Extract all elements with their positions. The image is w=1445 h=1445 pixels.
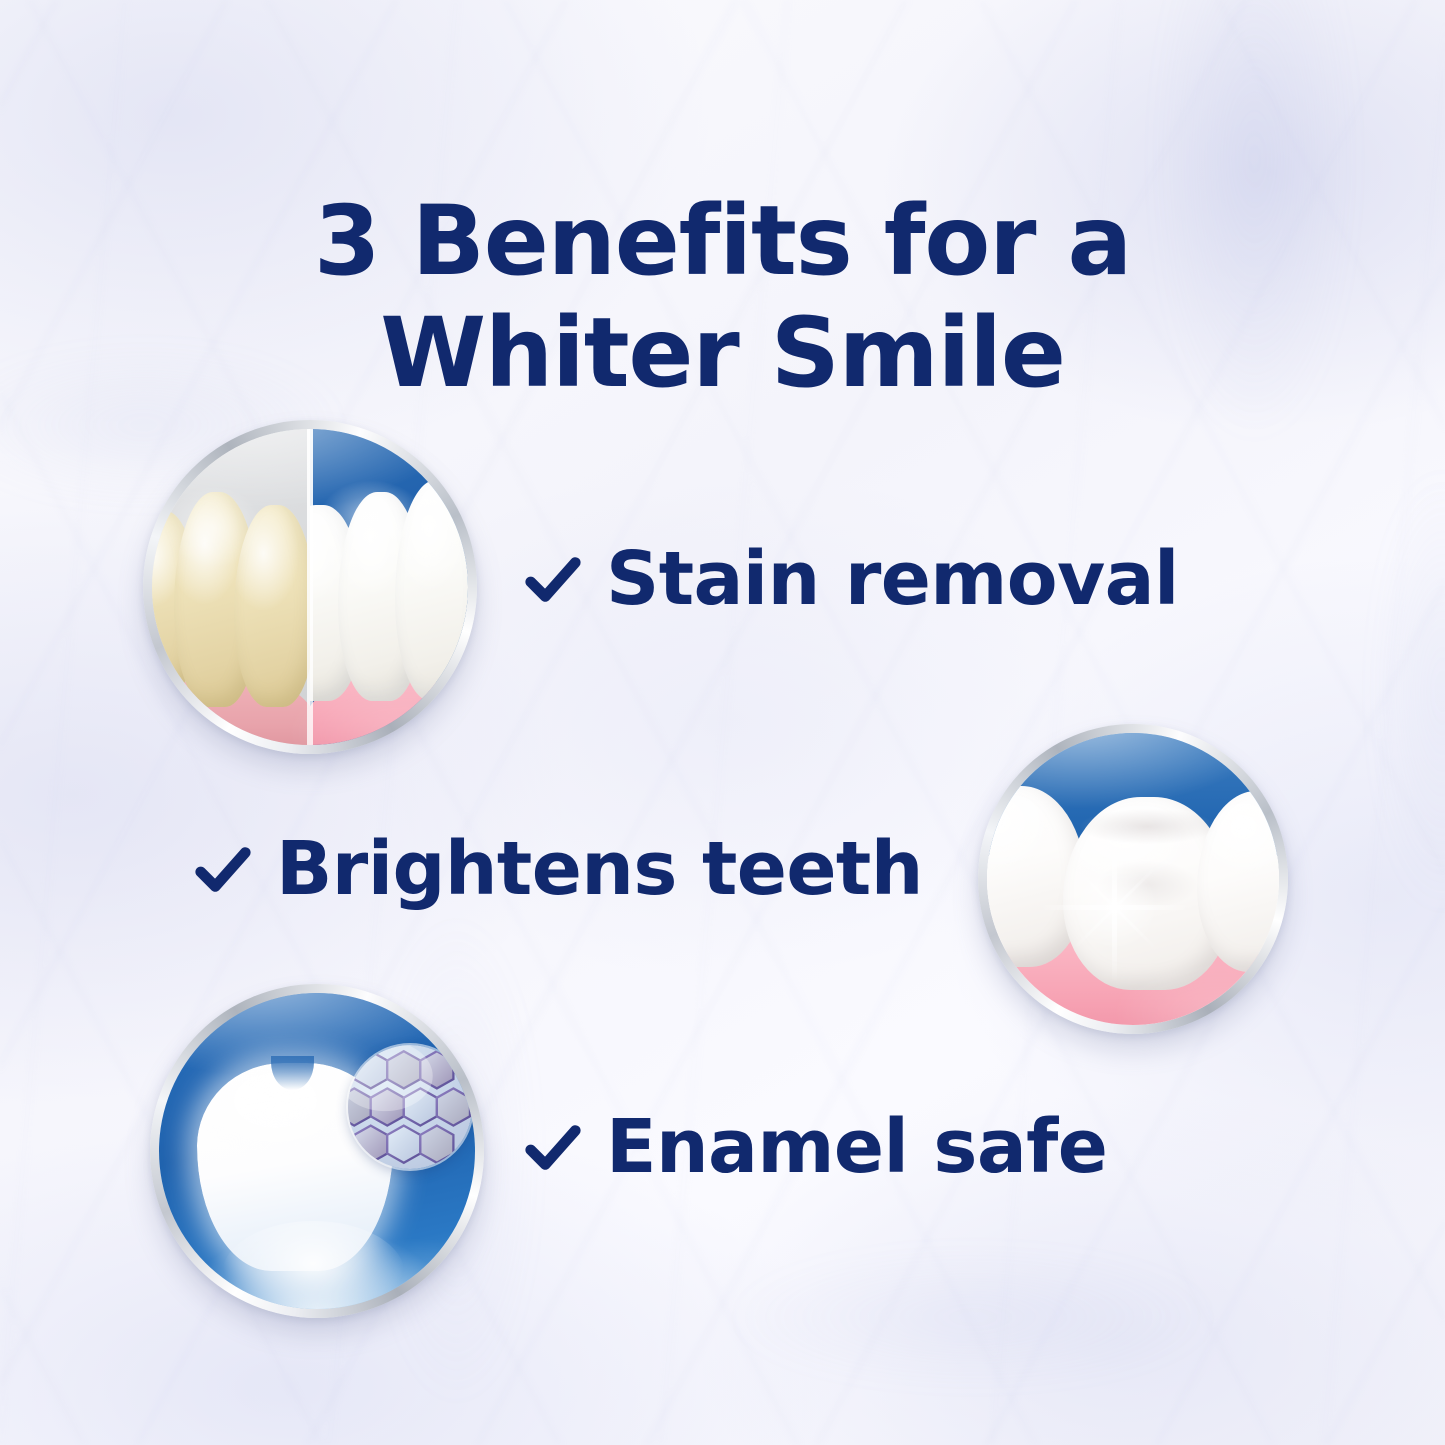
benefit-label-text: Brightens teeth — [276, 832, 923, 906]
benefit-label-enamel-safe: Enamel safe — [522, 1110, 1107, 1184]
check-icon — [192, 838, 254, 900]
infographic-canvas: 3 Benefits for a Whiter Smile — [0, 0, 1445, 1445]
before-after-divider — [307, 429, 313, 745]
benefit-label-text: Stain removal — [606, 542, 1179, 616]
page-title: 3 Benefits for a Whiter Smile — [0, 186, 1445, 409]
check-icon — [522, 548, 584, 610]
enamel-structure-icon — [159, 993, 475, 1309]
benefit-label-brightens-teeth: Brightens teeth — [192, 832, 923, 906]
before-panel — [152, 429, 310, 745]
page-title-line-2: Whiter Smile — [0, 298, 1445, 409]
benefit-label-text: Enamel safe — [606, 1110, 1107, 1184]
honeycomb-magnifier-icon — [348, 1045, 472, 1169]
shining-teeth-icon — [987, 733, 1279, 1025]
page-title-line-1: 3 Benefits for a — [0, 186, 1445, 297]
benefit-image-stain-removal — [143, 420, 477, 754]
check-icon — [522, 1116, 584, 1178]
benefit-image-brightens-teeth — [978, 724, 1288, 1034]
after-panel — [310, 429, 468, 745]
before-after-teeth-icon — [152, 429, 468, 745]
stained-tooth-c — [234, 505, 310, 707]
benefit-label-stain-removal: Stain removal — [522, 542, 1179, 616]
benefit-image-enamel-safe — [150, 984, 484, 1318]
